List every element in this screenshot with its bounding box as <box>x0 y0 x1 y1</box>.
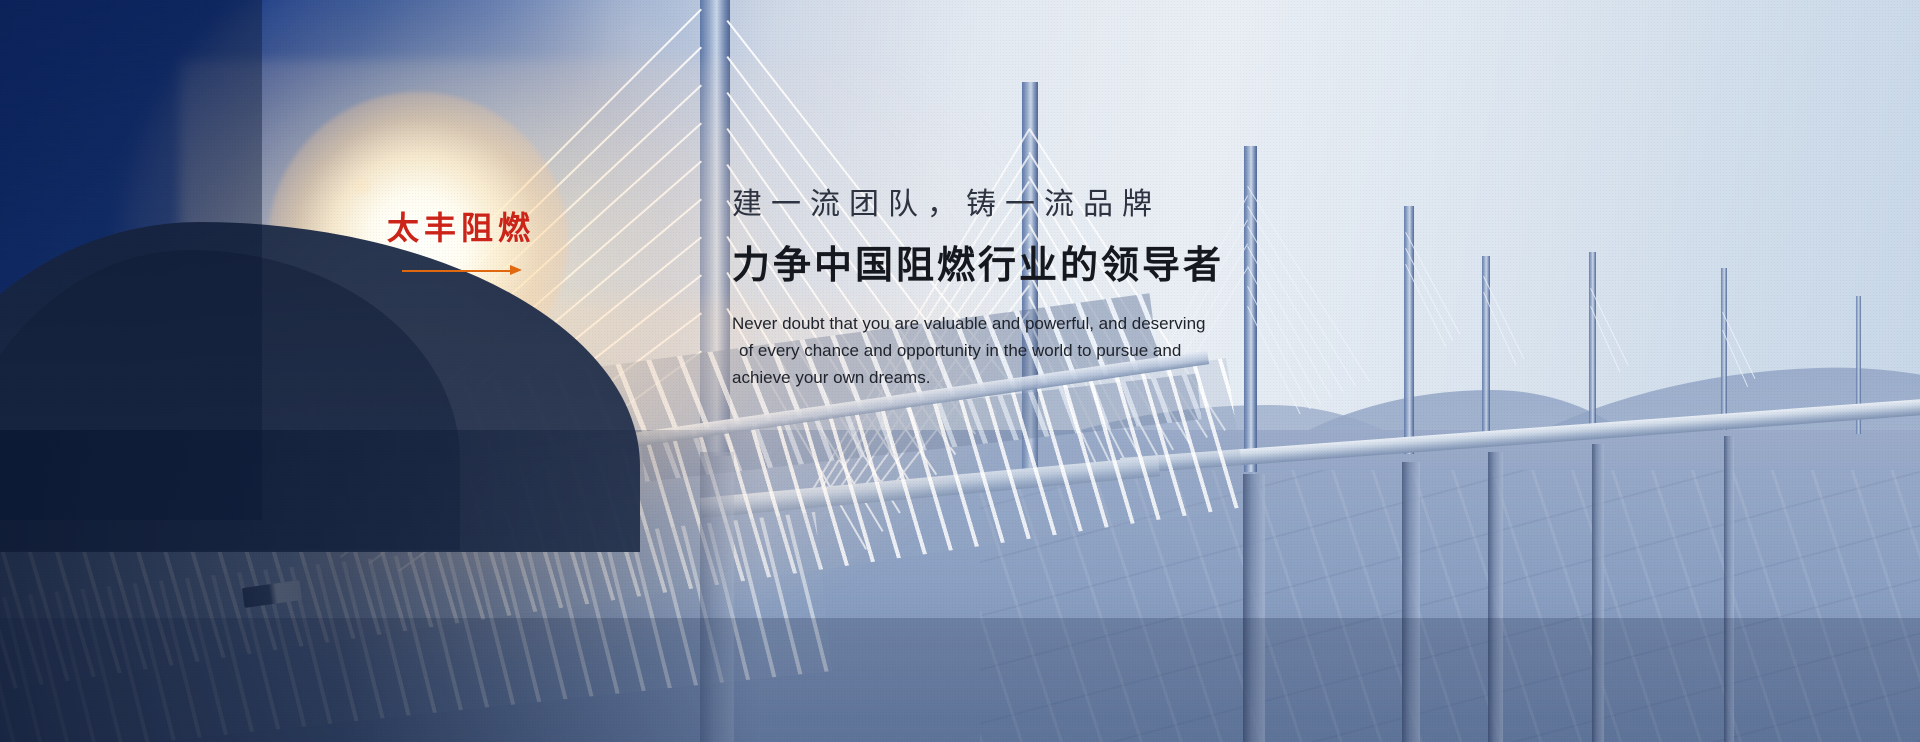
hero-headline: 力争中国阻燃行业的领导者 <box>732 246 1352 284</box>
bottom-tint-band <box>0 618 1920 742</box>
arrow-right-icon <box>402 264 522 276</box>
hero-paragraph-line-3: achieve your own dreams. <box>732 364 1298 391</box>
lens-flare-dot-3 <box>352 176 372 196</box>
brand-logo-text: 太丰阻燃 <box>376 212 546 244</box>
hero-copy: 建一流团队，铸一流品牌 力争中国阻燃行业的领导者 Never doubt tha… <box>732 190 1352 391</box>
bridge-pylon-5 <box>1589 252 1596 430</box>
arrow-head <box>510 265 522 275</box>
bridge-pylon-3 <box>1404 206 1414 454</box>
hero-paragraph: Never doubt that you are valuable and po… <box>732 310 1298 391</box>
left-tint-panel <box>0 0 262 520</box>
arrow-shaft <box>402 270 514 272</box>
hero-paragraph-line-1: Never doubt that you are valuable and po… <box>732 310 1298 337</box>
brand-logo[interactable]: 太丰阻燃 <box>376 212 546 276</box>
hero-paragraph-line-2: of every chance and opportunity in the w… <box>732 337 1298 364</box>
hero-subheadline: 建一流团队，铸一流品牌 <box>732 190 1352 220</box>
bridge-pylon-6 <box>1721 268 1727 430</box>
hero-banner: 太丰阻燃 建一流团队，铸一流品牌 力争中国阻燃行业的领导者 Never doub… <box>0 0 1920 742</box>
